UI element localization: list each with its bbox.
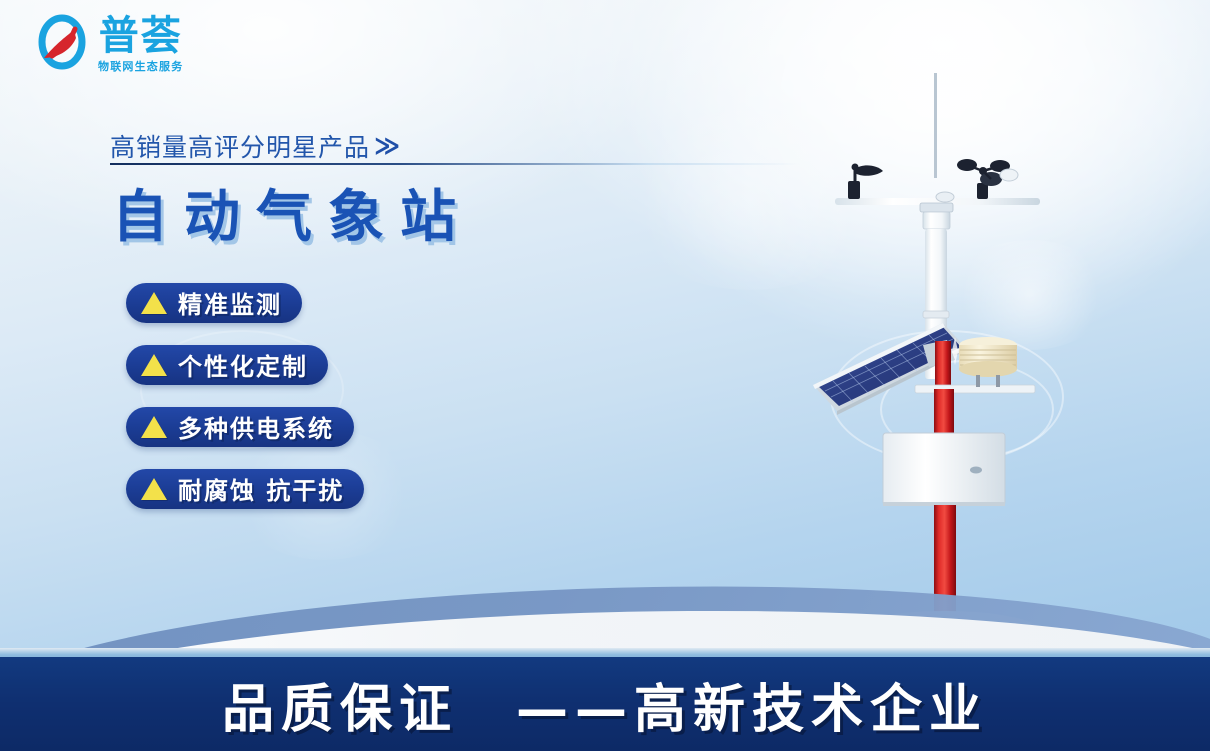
bottom-banner: 品质保证 ——高新技术企业 <box>0 657 1210 751</box>
feature-pill[interactable]: 耐腐蚀 抗干扰 <box>126 469 364 509</box>
eyebrow-divider <box>110 163 800 165</box>
feature-pill-label: 耐腐蚀 抗干扰 <box>178 471 344 506</box>
feature-pill-label: 精准监测 <box>178 285 282 320</box>
banner-left-text: 品质保证 <box>222 667 458 742</box>
feature-pill-label: 多种供电系统 <box>178 409 334 444</box>
eyebrow-text: 高销量高评分明星产品 <box>110 128 370 164</box>
triangle-bullet-icon <box>141 416 167 438</box>
red-pole-upper <box>934 389 954 437</box>
poster-canvas: 普荟 物联网生态服务 高销量高评分明星产品 ≫ 自动气象站 精准监测 个性化定制… <box>0 0 1210 751</box>
pu-hui-ring-logo-icon <box>34 14 92 72</box>
product-image <box>795 55 1095 655</box>
banner-right-text: ——高新技术企业 <box>516 667 988 742</box>
page-title: 自动气象站 <box>112 172 472 253</box>
feature-pill[interactable]: 多种供电系统 <box>126 407 354 447</box>
junction-collar <box>920 203 953 229</box>
wind-vane-icon <box>848 164 883 200</box>
brand-logo[interactable]: 普荟 物联网生态服务 <box>34 14 183 74</box>
brand-name: 普荟 <box>99 16 183 57</box>
triangle-bullet-icon <box>141 354 167 376</box>
feature-pill-list: 精准监测 个性化定制 多种供电系统 耐腐蚀 抗干扰 <box>126 283 364 509</box>
triangle-bullet-icon <box>141 292 167 314</box>
feature-pill[interactable]: 精准监测 <box>126 283 302 323</box>
radiation-shield-icon <box>959 337 1017 387</box>
control-box-icon <box>883 433 1005 506</box>
brand-text: 普荟 物联网生态服务 <box>98 14 183 74</box>
feature-pill-label: 个性化定制 <box>178 347 308 382</box>
anemometer-icon <box>957 159 1018 199</box>
dome-sensor-icon <box>936 192 954 202</box>
feature-pill[interactable]: 个性化定制 <box>126 345 328 385</box>
triangle-bullet-icon <box>141 478 167 500</box>
chevron-right-double-icon: ≫ <box>374 134 400 159</box>
eyebrow: 高销量高评分明星产品 ≫ <box>110 128 400 164</box>
brand-tagline: 物联网生态服务 <box>98 58 183 74</box>
lightning-rod-icon <box>934 73 937 178</box>
